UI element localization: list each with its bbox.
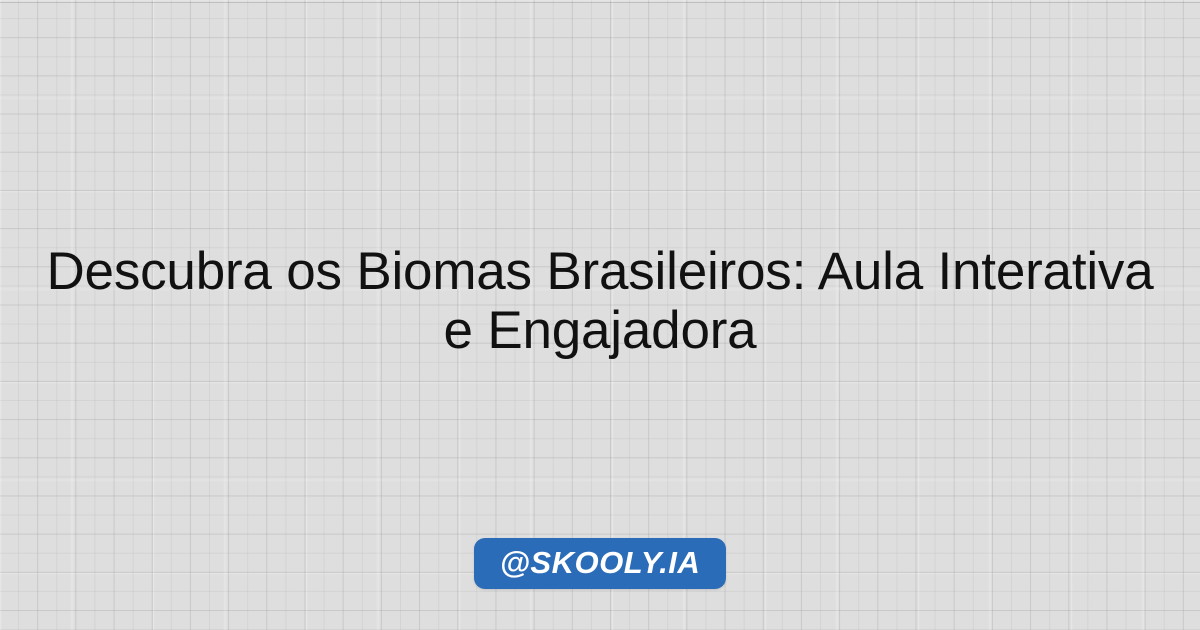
page-title: Descubra os Biomas Brasileiros: Aula Int…: [0, 242, 1200, 361]
social-card: Descubra os Biomas Brasileiros: Aula Int…: [0, 0, 1200, 630]
badge-container: @SKOOLY.IA: [0, 538, 1200, 589]
brand-handle-badge: @SKOOLY.IA: [474, 538, 727, 589]
card-content: Descubra os Biomas Brasileiros: Aula Int…: [0, 0, 1200, 630]
